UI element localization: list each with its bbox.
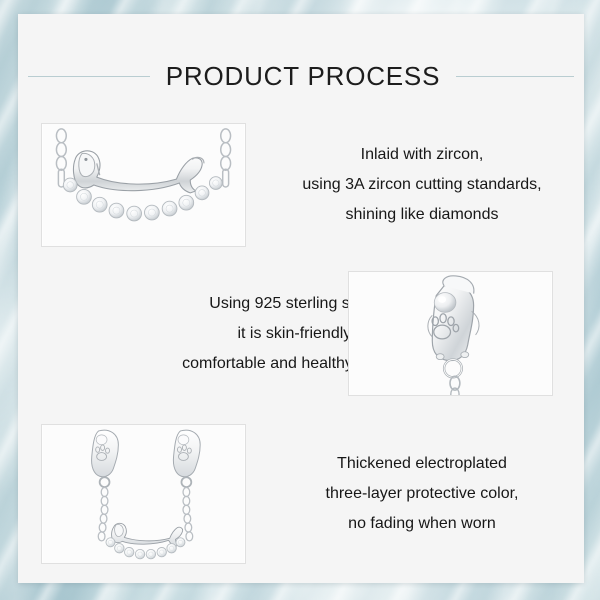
caption-zircon: Inlaid with zircon, using 3A zircon cutt…: [264, 140, 580, 230]
section-sterling-silver: Using 925 sterling silver, it is skin-fr…: [18, 269, 584, 399]
dachshund-clasp-closeup-image: [348, 271, 553, 396]
title-rule-left: [28, 76, 150, 77]
full-necklace-view-image: [41, 424, 246, 564]
page-title: PRODUCT PROCESS: [166, 63, 440, 89]
page-title-row: PRODUCT PROCESS: [18, 56, 584, 96]
section-electroplated: Thickened electroplated three-layer prot…: [18, 421, 584, 566]
caption-line: Thickened electroplated: [270, 449, 574, 479]
caption-line: shining like diamonds: [270, 200, 574, 230]
section-zircon: Inlaid with zircon, using 3A zircon cutt…: [18, 120, 584, 250]
caption-electroplated: Thickened electroplated three-layer prot…: [264, 449, 580, 539]
dachshund-zircon-pendant-image: [41, 123, 246, 247]
title-rule-right: [456, 76, 574, 77]
caption-line: Inlaid with zircon,: [270, 140, 574, 170]
content-card: PRODUCT PROCESS: [18, 14, 584, 583]
caption-line: using 3A zircon cutting standards,: [270, 170, 574, 200]
product-process-infographic: PRODUCT PROCESS: [0, 0, 600, 600]
caption-line: no fading when worn: [270, 509, 574, 539]
caption-line: three-layer protective color,: [270, 479, 574, 509]
